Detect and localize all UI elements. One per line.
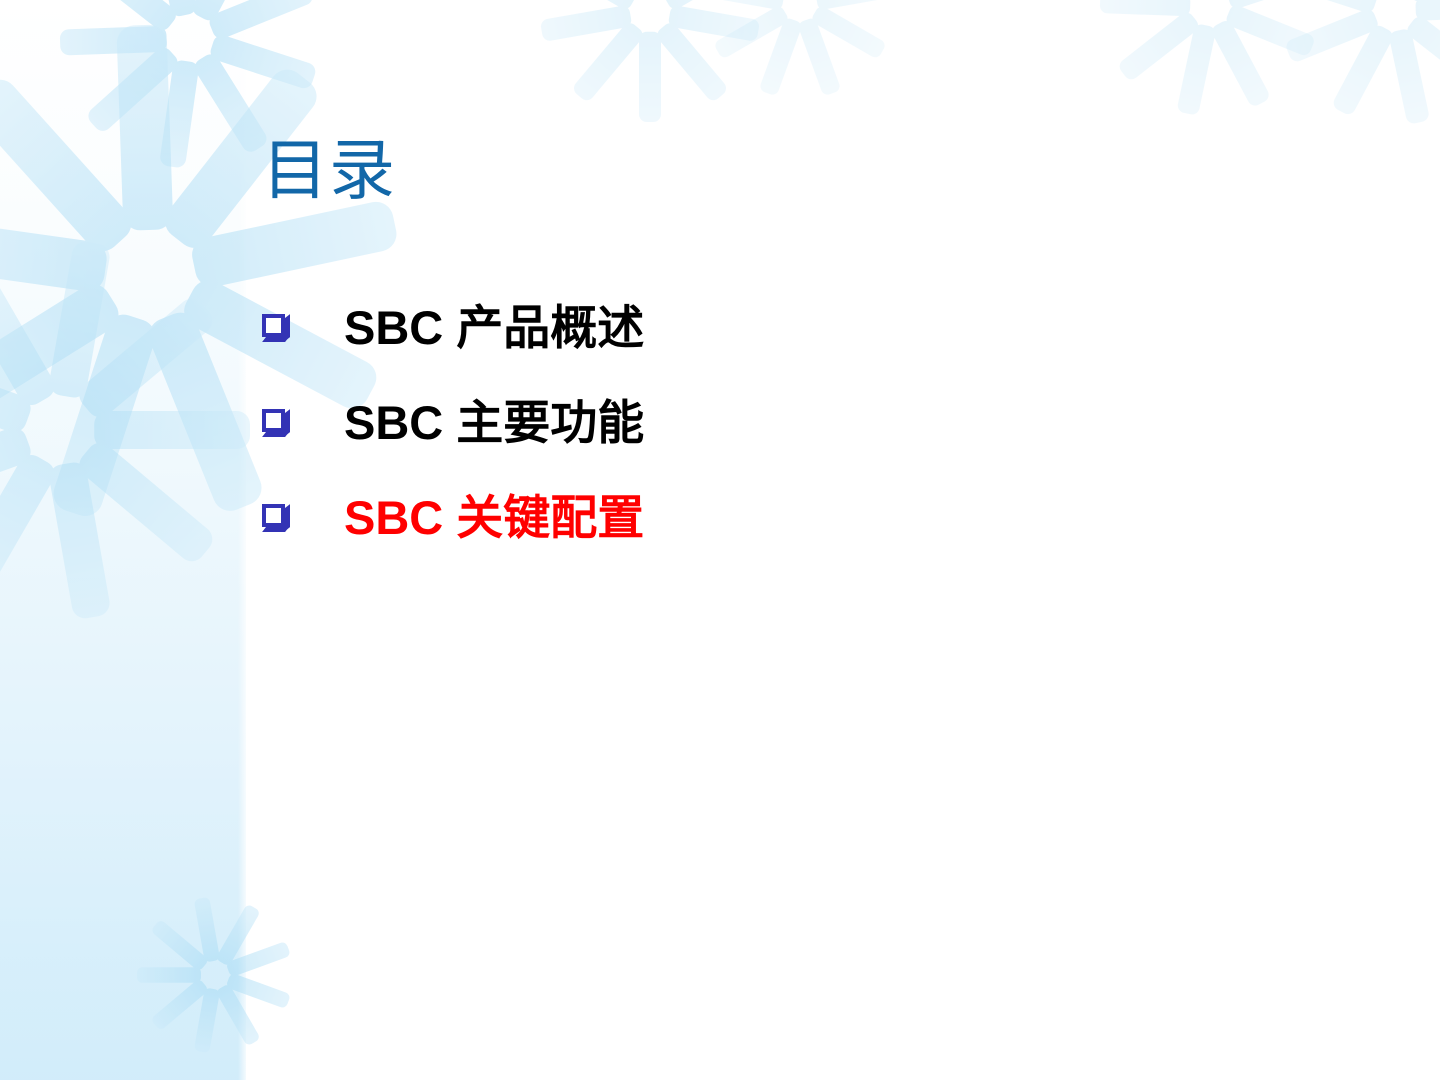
agenda-item-2[interactable]: SBC 主要功能 [258, 391, 1158, 453]
agenda-item-label: SBC 产品概述 [344, 304, 644, 351]
hollow-square-bullet-icon [262, 409, 288, 435]
agenda-item-1[interactable]: SBC 产品概述 [258, 296, 1158, 358]
page-title: 目录 [262, 136, 396, 205]
agenda-item-3[interactable]: SBC 关键配置 [258, 486, 1158, 548]
agenda-item-label: SBC 主要功能 [344, 399, 644, 446]
hollow-square-bullet-icon [262, 314, 288, 340]
presentation-slide: 目录 SBC 产品概述 SBC 主要功能 [0, 0, 1440, 1080]
slide-content: 目录 SBC 产品概述 SBC 主要功能 [0, 0, 1440, 1080]
agenda-item-label: SBC 关键配置 [344, 494, 644, 541]
hollow-square-bullet-icon [262, 504, 288, 530]
agenda-list: SBC 产品概述 SBC 主要功能 SBC 关键配置 [258, 296, 1158, 581]
